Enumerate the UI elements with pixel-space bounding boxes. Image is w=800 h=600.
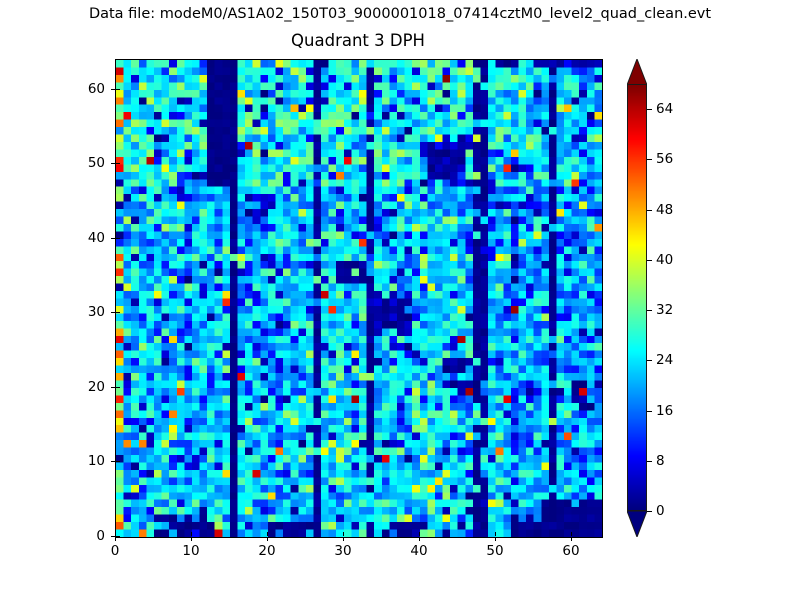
colorbar-over-arrow-icon (627, 59, 647, 85)
y-tick-label: 40 (88, 230, 105, 246)
y-tick-mark (111, 461, 115, 462)
y-tick-mark-inner (116, 89, 120, 90)
x-tick-mark-inner (419, 532, 420, 536)
y-tick-mark (111, 163, 115, 164)
colorbar-tick-mark (647, 210, 652, 211)
colorbar-tick-label: 0 (656, 503, 665, 519)
x-tick-label: 10 (182, 543, 199, 559)
y-tick-mark-inner (116, 461, 120, 462)
y-tick-mark (111, 536, 115, 537)
colorbar-tick-label: 56 (656, 151, 673, 167)
y-tick-mark-inner (116, 536, 120, 537)
colorbar-tick-label: 40 (656, 252, 673, 268)
colorbar-tick-label: 48 (656, 202, 673, 218)
colorbar-gradient (627, 84, 647, 511)
x-tick-mark-inner (267, 532, 268, 536)
colorbar[interactable] (627, 59, 647, 536)
y-tick-label: 20 (88, 379, 105, 395)
x-tick-mark-inner (571, 532, 572, 536)
figure-canvas: Data file: modeM0/AS1A02_150T03_90000010… (0, 0, 800, 600)
x-tick-label: 60 (562, 543, 579, 559)
x-tick-label: 30 (334, 543, 351, 559)
data-file-label: Data file: modeM0/AS1A02_150T03_90000010… (0, 6, 800, 22)
x-tick-label: 20 (258, 543, 275, 559)
y-tick-mark-inner (116, 238, 120, 239)
colorbar-tick-mark (647, 461, 652, 462)
colorbar-tick-mark (647, 511, 652, 512)
colorbar-tick-label: 8 (656, 453, 665, 469)
x-tick-mark (191, 537, 192, 541)
x-tick-mark (495, 537, 496, 541)
y-tick-label: 30 (88, 304, 105, 320)
plot-title: Quadrant 3 DPH (115, 31, 601, 50)
heatmap-axes[interactable] (115, 59, 603, 538)
x-tick-mark (343, 537, 344, 541)
y-tick-label: 0 (96, 528, 105, 544)
colorbar-tick-mark (647, 260, 652, 261)
x-tick-mark (115, 537, 116, 541)
y-tick-mark-inner (116, 163, 120, 164)
colorbar-under-arrow-icon (627, 511, 647, 537)
x-tick-label: 0 (111, 543, 120, 559)
y-tick-mark-inner (116, 312, 120, 313)
colorbar-tick-mark (647, 411, 652, 412)
x-tick-mark-inner (495, 532, 496, 536)
x-tick-label: 40 (410, 543, 427, 559)
x-tick-mark (419, 537, 420, 541)
x-tick-mark (571, 537, 572, 541)
colorbar-tick-label: 16 (656, 403, 673, 419)
colorbar-tick-mark (647, 310, 652, 311)
y-tick-mark (111, 312, 115, 313)
x-tick-label: 50 (486, 543, 503, 559)
colorbar-tick-label: 32 (656, 302, 673, 318)
y-tick-mark (111, 387, 115, 388)
colorbar-tick-mark (647, 109, 652, 110)
y-tick-mark (111, 89, 115, 90)
dph-heatmap-image[interactable] (116, 60, 602, 537)
x-tick-mark (267, 537, 268, 541)
y-tick-mark (111, 238, 115, 239)
y-tick-label: 50 (88, 155, 105, 171)
colorbar-tick-label: 24 (656, 352, 673, 368)
colorbar-tick-mark (647, 360, 652, 361)
colorbar-tick-label: 64 (656, 101, 673, 117)
x-tick-mark-inner (343, 532, 344, 536)
x-tick-mark-inner (191, 532, 192, 536)
y-tick-label: 10 (88, 453, 105, 469)
y-tick-mark-inner (116, 387, 120, 388)
colorbar-tick-mark (647, 159, 652, 160)
y-tick-label: 60 (88, 81, 105, 97)
